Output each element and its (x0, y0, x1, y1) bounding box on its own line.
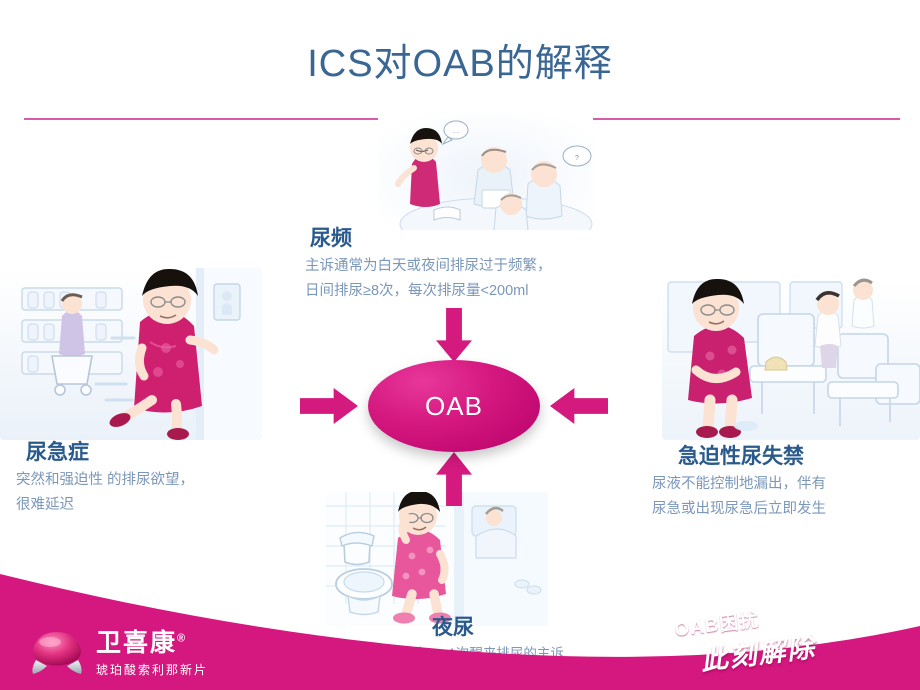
illustration-top-meeting: … ? (378, 112, 593, 230)
section-body-nocturia: 每夜>＝1次醒来排尿的主诉 (400, 641, 564, 666)
frequency-line-1: 主诉通常为白天或夜间排尿过于频繁， (305, 254, 552, 279)
svg-text:?: ? (575, 155, 579, 162)
illustration-bottom-bathroom (326, 492, 548, 626)
oab-center-node: OAB (368, 360, 540, 452)
frequency-line-2: 日间排尿≥8次，每次排尿量<200ml (305, 279, 552, 304)
urgency-line-1: 突然和强迫性 的排尿欲望， (16, 468, 194, 493)
slide-canvas: ICS对OAB的解释 … (0, 0, 920, 690)
section-heading-nocturia: 夜尿 (432, 611, 474, 641)
pink-cushion-logo-icon (28, 626, 86, 676)
nocturia-line-1: 每夜>＝1次醒来排尿的主诉 (400, 641, 564, 666)
brand-subtitle: 琥珀酸索利那新片 (96, 661, 208, 678)
section-heading-frequency: 尿频 (310, 222, 352, 252)
incontinence-line-1: 尿液不能控制地漏出，伴有 (652, 472, 826, 497)
svg-text:…: … (453, 128, 460, 135)
section-body-urgency: 突然和强迫性 的排尿欲望， 很难延迟 (16, 468, 194, 518)
page-title: ICS对OAB的解释 (0, 32, 920, 87)
incontinence-line-2: 尿急或出现尿急后立即发生 (652, 497, 826, 522)
registered-mark: ® (177, 633, 187, 645)
arrow-down-icon (436, 308, 472, 362)
urgency-line-2: 很难延迟 (16, 493, 194, 518)
brand-name-text: 卫喜康 (96, 629, 177, 657)
section-heading-urgency: 尿急症 (26, 436, 89, 466)
illustration-right-bench (662, 278, 920, 440)
brand-name: 卫喜康® (96, 623, 208, 659)
campaign-slogan: OAB困扰 此刻解除 (666, 610, 896, 672)
section-heading-urge-incontinence: 急迫性尿失禁 (678, 440, 804, 470)
section-body-urge-incontinence: 尿液不能控制地漏出，伴有 尿急或出现尿急后立即发生 (652, 472, 826, 522)
arrow-right-icon (300, 388, 358, 424)
arrow-left-icon (550, 388, 608, 424)
section-body-frequency: 主诉通常为白天或夜间排尿过于频繁， 日间排尿≥8次，每次排尿量<200ml (305, 254, 552, 304)
illustration-left-restroom (0, 268, 262, 440)
oab-label: OAB (425, 391, 483, 422)
product-brand-logo: 卫喜康® 琥珀酸索利那新片 (28, 623, 208, 678)
